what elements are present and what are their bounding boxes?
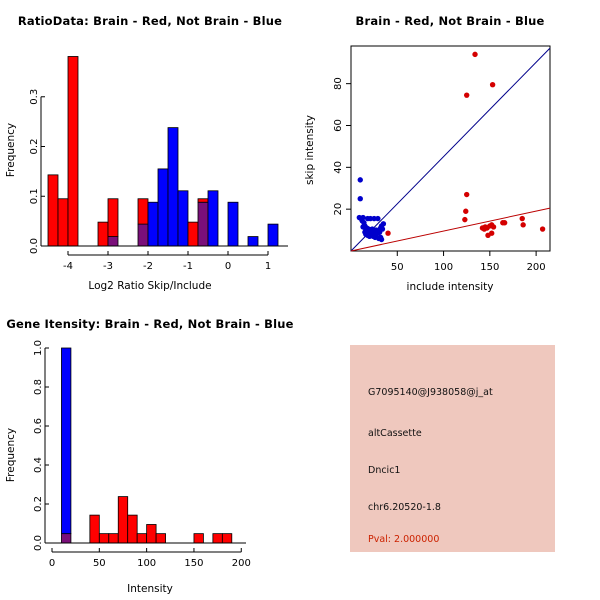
info-event-type: altCassette <box>368 428 422 439</box>
scatter-point-not-brain <box>360 224 365 229</box>
panel2-x-axis-title: include intensity <box>407 281 494 293</box>
histogram-bar-brain <box>188 222 198 246</box>
info-gene-symbol: Dncic1 <box>368 465 400 476</box>
panel3-title: Gene Itensity: Brain - Red, Not Brain - … <box>0 317 300 331</box>
panel2-svg: 20406080 50100150200 include intensity s… <box>300 0 600 300</box>
panel1-svg: 0.00.10.20.3 -4-3-2-101 Log2 Ratio Skip/… <box>0 0 300 300</box>
info-box: G7095140@J938058@j_at altCassette Dncic1… <box>350 345 555 552</box>
panel3-y-tick-label: 0.8 <box>33 379 44 395</box>
panel3-y-tick-label: 0.0 <box>33 535 44 551</box>
histogram-bar-overlap <box>108 237 118 246</box>
panel2-x-tick-label: 50 <box>391 262 404 273</box>
panel3-y-axis: 0.00.20.40.60.81.0 <box>33 340 49 551</box>
histogram-bar-brain <box>68 56 78 246</box>
panel3-y-tick-label: 1.0 <box>33 340 44 356</box>
histogram-bar-brain <box>109 534 118 543</box>
panel-gene-intensity-histogram: Gene Itensity: Brain - Red, Not Brain - … <box>0 300 300 600</box>
scatter-point-not-brain <box>379 237 384 242</box>
histogram-bar-not-brain <box>148 202 158 246</box>
scatter-point-brain <box>464 192 469 197</box>
panel2-y-axis-title: skip intensity <box>304 115 316 185</box>
scatter-point-not-brain <box>380 226 385 231</box>
scatter-point-not-brain <box>375 216 380 221</box>
panel1-y-tick-label: 0.2 <box>29 139 40 155</box>
histogram-bar-not-brain <box>248 237 258 246</box>
panel3-x-tick-label: 150 <box>184 558 203 569</box>
info-probe-id: G7095140@J938058@j_at <box>368 387 493 398</box>
info-pval: Pval: 2.000000 <box>368 534 439 545</box>
panel2-y-tick-label: 40 <box>333 161 344 174</box>
figure-root: RatioData: Brain - Red, Not Brain - Blue… <box>0 0 600 600</box>
scatter-point-brain <box>520 222 525 227</box>
panel3-svg: 0.00.20.40.60.81.0 050100150200 Intensit… <box>0 300 300 600</box>
panel-ratio-histogram: RatioData: Brain - Red, Not Brain - Blue… <box>0 0 300 300</box>
scatter-point-brain <box>472 52 477 57</box>
panel2-x-tick-label: 100 <box>434 262 453 273</box>
panel2-y-tick-label: 20 <box>333 203 344 216</box>
panel1-x-tick-label: -3 <box>103 261 113 272</box>
panel1-y-tick-label: 0.0 <box>29 238 40 254</box>
scatter-point-brain <box>385 231 390 236</box>
histogram-bar-brain <box>118 497 127 543</box>
panel-probe-info: G7095140@J938058@j_at altCassette Dncic1… <box>300 300 600 600</box>
scatter-point-brain <box>502 220 507 225</box>
fit-line-not-brain <box>351 48 550 251</box>
histogram-bar-brain <box>128 515 137 543</box>
scatter-point-brain <box>491 224 496 229</box>
scatter-point-brain <box>520 216 525 221</box>
panel3-x-tick-label: 200 <box>232 558 251 569</box>
scatter-point-brain <box>463 209 468 214</box>
histogram-bar-brain <box>194 534 203 543</box>
panel3-x-axis-title: Intensity <box>127 583 173 595</box>
panel3-y-tick-label: 0.2 <box>33 496 44 512</box>
panel1-bars <box>48 56 278 246</box>
info-locus: chr6.20520-1.8 <box>368 502 441 513</box>
panel1-y-tick-label: 0.1 <box>29 188 40 204</box>
histogram-bar-brain <box>138 199 148 224</box>
panel2-fit-lines <box>351 48 550 251</box>
histogram-bar-not-brain <box>61 348 70 534</box>
histogram-bar-brain <box>90 515 99 543</box>
histogram-bar-brain <box>156 534 165 543</box>
scatter-point-brain <box>462 217 467 222</box>
panel1-y-axis: 0.00.10.20.3 <box>29 89 45 254</box>
histogram-bar-brain <box>48 175 58 246</box>
histogram-bar-brain <box>198 199 208 202</box>
scatter-point-brain <box>490 82 495 87</box>
scatter-point-brain <box>489 231 494 236</box>
scatter-point-not-brain <box>360 215 365 220</box>
scatter-point-not-brain <box>368 216 373 221</box>
panel3-x-axis: 050100150200 <box>45 543 251 569</box>
panel3-y-tick-label: 0.6 <box>33 418 44 434</box>
panel3-x-tick-label: 100 <box>137 558 156 569</box>
scatter-point-brain <box>464 92 469 97</box>
histogram-bar-overlap <box>198 202 208 246</box>
panel1-y-tick-label: 0.3 <box>29 89 40 105</box>
panel1-x-tick-label: -1 <box>183 261 193 272</box>
panel1-y-axis-title: Frequency <box>5 123 17 177</box>
histogram-bar-not-brain <box>158 169 168 246</box>
scatter-point-not-brain <box>358 196 363 201</box>
histogram-bar-brain <box>108 199 118 237</box>
panel1-x-tick-label: -2 <box>143 261 153 272</box>
panel2-x-tick-label: 200 <box>527 262 546 273</box>
panel1-x-axis: -4-3-2-101 <box>41 246 288 272</box>
panel2-y-tick-label: 60 <box>333 119 344 132</box>
histogram-bar-brain <box>98 222 108 246</box>
histogram-bar-brain <box>58 199 68 246</box>
panel1-x-tick-label: 0 <box>225 261 231 272</box>
panel1-x-tick-label: -4 <box>63 261 73 272</box>
scatter-point-not-brain <box>358 177 363 182</box>
panel2-x-tick-label: 150 <box>480 262 499 273</box>
panel3-y-axis-title: Frequency <box>5 428 17 482</box>
panel1-x-axis-title: Log2 Ratio Skip/Include <box>88 280 211 292</box>
panel1-title: RatioData: Brain - Red, Not Brain - Blue <box>0 14 300 28</box>
histogram-bar-not-brain <box>178 191 188 246</box>
panel2-y-axis: 20406080 <box>333 77 351 215</box>
scatter-point-not-brain <box>381 221 386 226</box>
panel2-title: Brain - Red, Not Brain - Blue <box>300 14 600 28</box>
histogram-bar-not-brain <box>168 128 178 246</box>
panel3-x-tick-label: 50 <box>93 558 106 569</box>
panel3-x-tick-label: 0 <box>49 558 55 569</box>
histogram-bar-brain <box>213 534 222 543</box>
histogram-bar-not-brain <box>268 224 278 246</box>
histogram-bar-not-brain <box>228 202 238 246</box>
panel3-bars <box>61 348 231 543</box>
histogram-bar-not-brain <box>208 191 218 246</box>
panel2-y-tick-label: 80 <box>333 77 344 90</box>
panel2-x-axis: 50100150200 <box>391 251 546 273</box>
histogram-bar-brain <box>147 524 156 543</box>
histogram-bar-brain <box>137 534 146 543</box>
histogram-bar-overlap <box>138 224 148 246</box>
panel1-x-tick-label: 1 <box>265 261 271 272</box>
panel2-points <box>357 52 546 243</box>
scatter-point-brain <box>540 226 545 231</box>
histogram-bar-brain <box>222 534 231 543</box>
histogram-bar-overlap <box>61 534 70 543</box>
histogram-bar-brain <box>99 534 108 543</box>
panel-intensity-scatter: Brain - Red, Not Brain - Blue 20406080 5… <box>300 0 600 300</box>
panel3-y-tick-label: 0.4 <box>33 457 44 473</box>
